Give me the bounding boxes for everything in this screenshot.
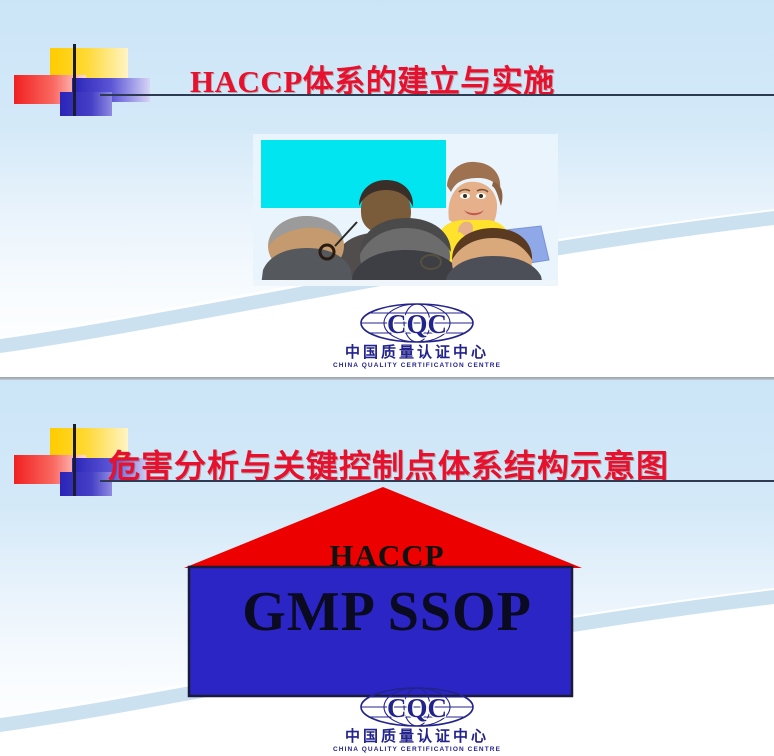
cqc-english-name: CHINA QUALITY CERTIFICATION CENTRE xyxy=(332,745,502,754)
logo-block-blue-small xyxy=(60,472,112,496)
cqc-chinese-name: 中国质量认证中心 xyxy=(332,344,502,361)
cqc-chinese-name: 中国质量认证中心 xyxy=(332,728,502,745)
cqc-footer-logo: CQC 中国质量认证中心 CHINA QUALITY CERTIFICATION… xyxy=(332,686,502,754)
cqc-globe-icon: CQC xyxy=(348,686,486,728)
corner-logo-mark xyxy=(12,44,212,116)
svg-text:CQC: CQC xyxy=(387,309,447,339)
slide-2[interactable]: 危害分析与关键控制点体系结构示意图 HACCP GMP SSOP CQC 中国质… xyxy=(0,380,774,756)
svg-text:CQC: CQC xyxy=(387,693,447,723)
cqc-footer-logo: CQC 中国质量认证中心 CHINA QUALITY CERTIFICATION… xyxy=(332,302,502,370)
slide-1[interactable]: HACCP体系的建立与实施 xyxy=(0,0,774,377)
roof-label-haccp: HACCP xyxy=(0,538,774,574)
title-underline-rule xyxy=(100,94,774,96)
cqc-english-name: CHINA QUALITY CERTIFICATION CENTRE xyxy=(332,361,502,370)
cqc-globe-icon: CQC xyxy=(348,302,486,344)
logo-vertical-bar xyxy=(73,424,76,496)
presentation-deck: HACCP体系的建立与实施 xyxy=(0,0,774,756)
logo-vertical-bar xyxy=(73,44,76,116)
base-label-gmp-ssop: GMP SSOP xyxy=(0,580,774,644)
training-classroom-illustration xyxy=(253,134,558,286)
